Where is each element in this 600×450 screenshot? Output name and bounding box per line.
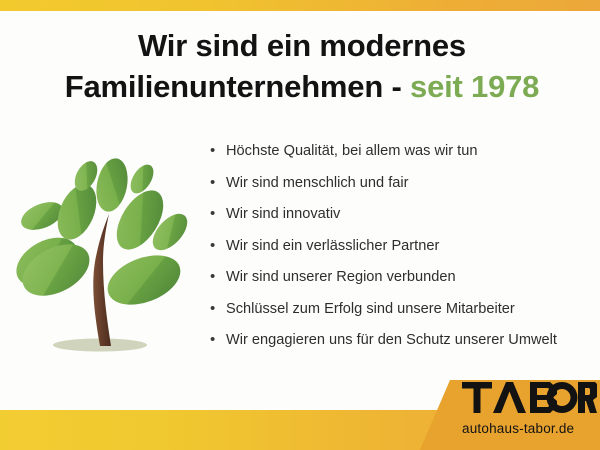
list-item-label: Wir sind ein verlässlicher Partner <box>226 235 439 257</box>
headline-accent-year: seit 1978 <box>410 69 539 104</box>
bullet-icon: • <box>210 298 226 320</box>
list-item: • Wir engagieren uns für den Schutz unse… <box>210 329 600 361</box>
tree-trunk <box>93 214 111 346</box>
bullet-icon: • <box>210 235 226 257</box>
tree-icon <box>14 152 194 360</box>
list-item: • Wir sind unserer Region verbunden <box>210 266 600 298</box>
list-item-label: Wir sind innovativ <box>226 203 340 225</box>
list-item: • Höchste Qualität, bei allem was wir tu… <box>210 140 600 172</box>
list-item-label: Wir engagieren uns für den Schutz unsere… <box>226 329 557 351</box>
list-item-label: Schlüssel zum Erfolg sind unsere Mitarbe… <box>226 298 515 320</box>
page-title: Wir sind ein modernes Familienunternehme… <box>24 26 580 108</box>
bullet-icon: • <box>210 203 226 225</box>
list-item: • Schlüssel zum Erfolg sind unsere Mitar… <box>210 298 600 330</box>
list-item: • Wir sind ein verlässlicher Partner <box>210 235 600 267</box>
tree-leaf <box>92 156 132 215</box>
headline-line-2: Familienunternehmen - seit 1978 <box>24 67 580 108</box>
list-item-label: Wir sind unserer Region verbunden <box>226 266 456 288</box>
headline-line-1: Wir sind ein modernes <box>24 26 580 67</box>
list-item-label: Wir sind menschlich und fair <box>226 172 409 194</box>
bullet-icon: • <box>210 140 226 162</box>
list-item: • Wir sind innovativ <box>210 203 600 235</box>
list-item-label: Höchste Qualität, bei allem was wir tun <box>226 140 477 162</box>
headline-line-2-main: Familienunternehmen - <box>65 69 410 104</box>
value-list: • Höchste Qualität, bei allem was wir tu… <box>210 140 600 361</box>
slide-canvas: Wir sind ein modernes Familienunternehme… <box>0 0 600 450</box>
logo-tagline: autohaus-tabor.de <box>462 421 574 436</box>
tabor-logo <box>462 382 597 416</box>
bullet-icon: • <box>210 266 226 288</box>
top-gradient-bar <box>0 0 600 11</box>
bullet-icon: • <box>210 329 226 351</box>
tree-leaf <box>101 246 188 314</box>
bullet-icon: • <box>210 172 226 194</box>
list-item: • Wir sind menschlich und fair <box>210 172 600 204</box>
